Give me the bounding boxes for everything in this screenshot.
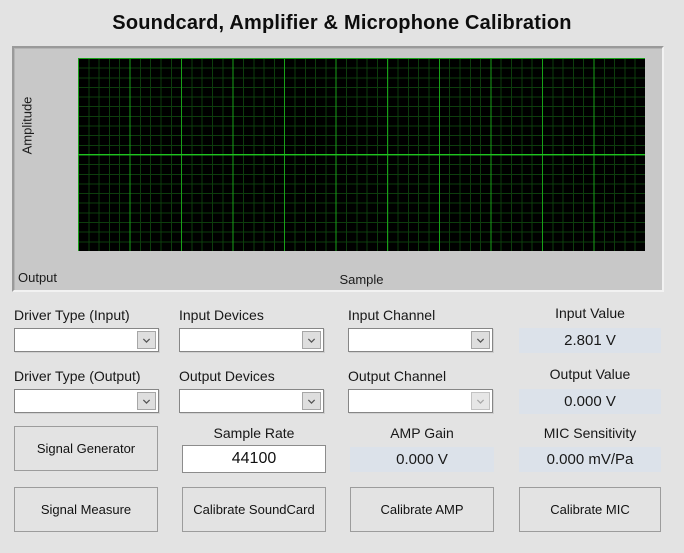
y-axis-title: Amplitude	[20, 86, 35, 166]
sample-rate-label: Sample Rate	[182, 425, 326, 441]
input-devices-label: Input Devices	[179, 307, 264, 323]
driver-type-output-label: Driver Type (Output)	[14, 368, 141, 384]
chevron-down-icon[interactable]	[137, 392, 156, 410]
driver-type-output-select[interactable]	[14, 389, 159, 413]
plot-legend-output: Output	[18, 270, 57, 285]
amp-gain-readout: 0.000 V	[350, 447, 494, 472]
chevron-down-icon[interactable]	[471, 331, 490, 349]
chevron-down-icon[interactable]	[471, 392, 490, 410]
input-channel-select[interactable]	[348, 328, 493, 352]
output-channel-select[interactable]	[348, 389, 493, 413]
output-value-label: Output Value	[519, 366, 661, 382]
input-value-readout: 2.801 V	[519, 328, 661, 353]
calibrate-mic-button[interactable]: Calibrate MIC	[519, 487, 661, 532]
chevron-down-icon[interactable]	[137, 331, 156, 349]
driver-type-input-select[interactable]	[14, 328, 159, 352]
calibrate-amp-button[interactable]: Calibrate AMP	[350, 487, 494, 532]
output-value-readout: 0.000 V	[519, 389, 661, 414]
page-title: Soundcard, Amplifier & Microphone Calibr…	[0, 12, 684, 35]
input-value-label: Input Value	[519, 305, 661, 321]
input-devices-select[interactable]	[179, 328, 324, 352]
driver-type-input-label: Driver Type (Input)	[14, 307, 130, 323]
sample-rate-input[interactable]: 44100	[182, 445, 326, 473]
calibrate-soundcard-button[interactable]: Calibrate SoundCard	[182, 487, 326, 532]
chevron-down-icon[interactable]	[302, 331, 321, 349]
mic-sensitivity-readout: 0.000 mV/Pa	[519, 447, 661, 472]
output-devices-select[interactable]	[179, 389, 324, 413]
output-devices-label: Output Devices	[179, 368, 275, 384]
signal-measure-button[interactable]: Signal Measure	[14, 487, 158, 532]
x-axis-title: Sample	[78, 272, 645, 287]
amp-gain-label: AMP Gain	[350, 425, 494, 441]
chevron-down-icon[interactable]	[302, 392, 321, 410]
signal-generator-button[interactable]: Signal Generator	[14, 426, 158, 471]
input-channel-label: Input Channel	[348, 307, 435, 323]
mic-sensitivity-label: MIC Sensitivity	[519, 425, 661, 441]
output-channel-label: Output Channel	[348, 368, 446, 384]
plot-area[interactable]: 0200400600800100012001400160018002000220…	[78, 58, 645, 251]
zero-amplitude-gridline	[78, 154, 645, 155]
